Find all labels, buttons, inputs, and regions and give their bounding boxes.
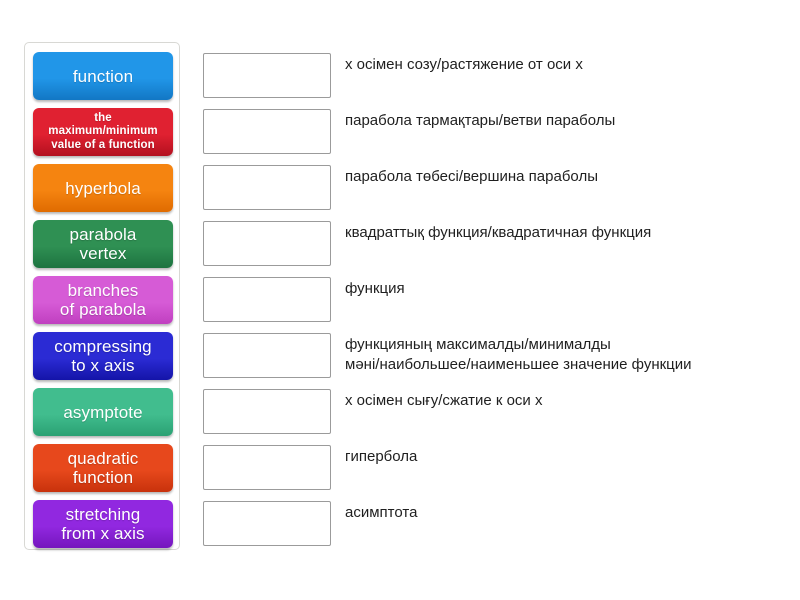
answer-row: асимптота bbox=[203, 490, 783, 546]
answer-row: квадраттық функция/квадратичная функция bbox=[203, 210, 783, 266]
draggable-tile[interactable]: the maximum/minimum value of a function bbox=[33, 108, 173, 156]
answer-row-label: асимптота bbox=[345, 503, 417, 523]
tile-label: function bbox=[38, 67, 168, 86]
answer-row-label: х осімен сығу/сжатие к оси х bbox=[345, 391, 542, 411]
answer-row: х осімен созу/растяжение от оси х bbox=[203, 42, 783, 98]
answer-rows: х осімен созу/растяжение от оси хпарабол… bbox=[203, 42, 783, 546]
draggable-tile[interactable]: parabola vertex bbox=[33, 220, 173, 268]
answer-row-label: гипербола bbox=[345, 447, 417, 467]
answer-row: парабола тармақтары/ветви параболы bbox=[203, 98, 783, 154]
drop-target-box[interactable] bbox=[203, 221, 331, 266]
drop-target-box[interactable] bbox=[203, 501, 331, 546]
tile-label: hyperbola bbox=[38, 179, 168, 198]
drop-target-box[interactable] bbox=[203, 389, 331, 434]
tile-label: compressing to x axis bbox=[38, 337, 168, 375]
answer-row-label: парабола тармақтары/ветви параболы bbox=[345, 111, 615, 131]
tile-label: quadratic function bbox=[38, 449, 168, 487]
tile-label: asymptote bbox=[38, 403, 168, 422]
draggable-tile[interactable]: hyperbola bbox=[33, 164, 173, 212]
drop-target-box[interactable] bbox=[203, 53, 331, 98]
answer-row-label: квадраттық функция/квадратичная функция bbox=[345, 223, 651, 243]
answer-row-label: функция bbox=[345, 279, 405, 299]
draggable-tile[interactable]: quadratic function bbox=[33, 444, 173, 492]
answer-row: гипербола bbox=[203, 434, 783, 490]
tile-label: branches of parabola bbox=[38, 281, 168, 319]
answer-row: функцияның максималды/минималды мәні/наи… bbox=[203, 322, 783, 378]
activity-stage: functionthe maximum/minimum value of a f… bbox=[0, 0, 800, 600]
drop-target-box[interactable] bbox=[203, 445, 331, 490]
tile-panel: functionthe maximum/minimum value of a f… bbox=[24, 42, 180, 550]
draggable-tile[interactable]: branches of parabola bbox=[33, 276, 173, 324]
tile-label: the maximum/minimum value of a function bbox=[38, 112, 168, 153]
tile-label: stretching from x axis bbox=[38, 505, 168, 543]
drop-target-box[interactable] bbox=[203, 109, 331, 154]
draggable-tile[interactable]: asymptote bbox=[33, 388, 173, 436]
drop-target-box[interactable] bbox=[203, 165, 331, 210]
answer-row: х осімен сығу/сжатие к оси х bbox=[203, 378, 783, 434]
drop-target-box[interactable] bbox=[203, 333, 331, 378]
drop-target-box[interactable] bbox=[203, 277, 331, 322]
answer-row: парабола төбесі/вершина параболы bbox=[203, 154, 783, 210]
draggable-tile[interactable]: stretching from x axis bbox=[33, 500, 173, 548]
answer-row-label: парабола төбесі/вершина параболы bbox=[345, 167, 598, 187]
answer-row-label: х осімен созу/растяжение от оси х bbox=[345, 55, 583, 75]
draggable-tile[interactable]: compressing to x axis bbox=[33, 332, 173, 380]
tile-label: parabola vertex bbox=[38, 225, 168, 263]
answer-row-label: функцияның максималды/минималды мәні/наи… bbox=[345, 335, 692, 375]
answer-row: функция bbox=[203, 266, 783, 322]
draggable-tile[interactable]: function bbox=[33, 52, 173, 100]
